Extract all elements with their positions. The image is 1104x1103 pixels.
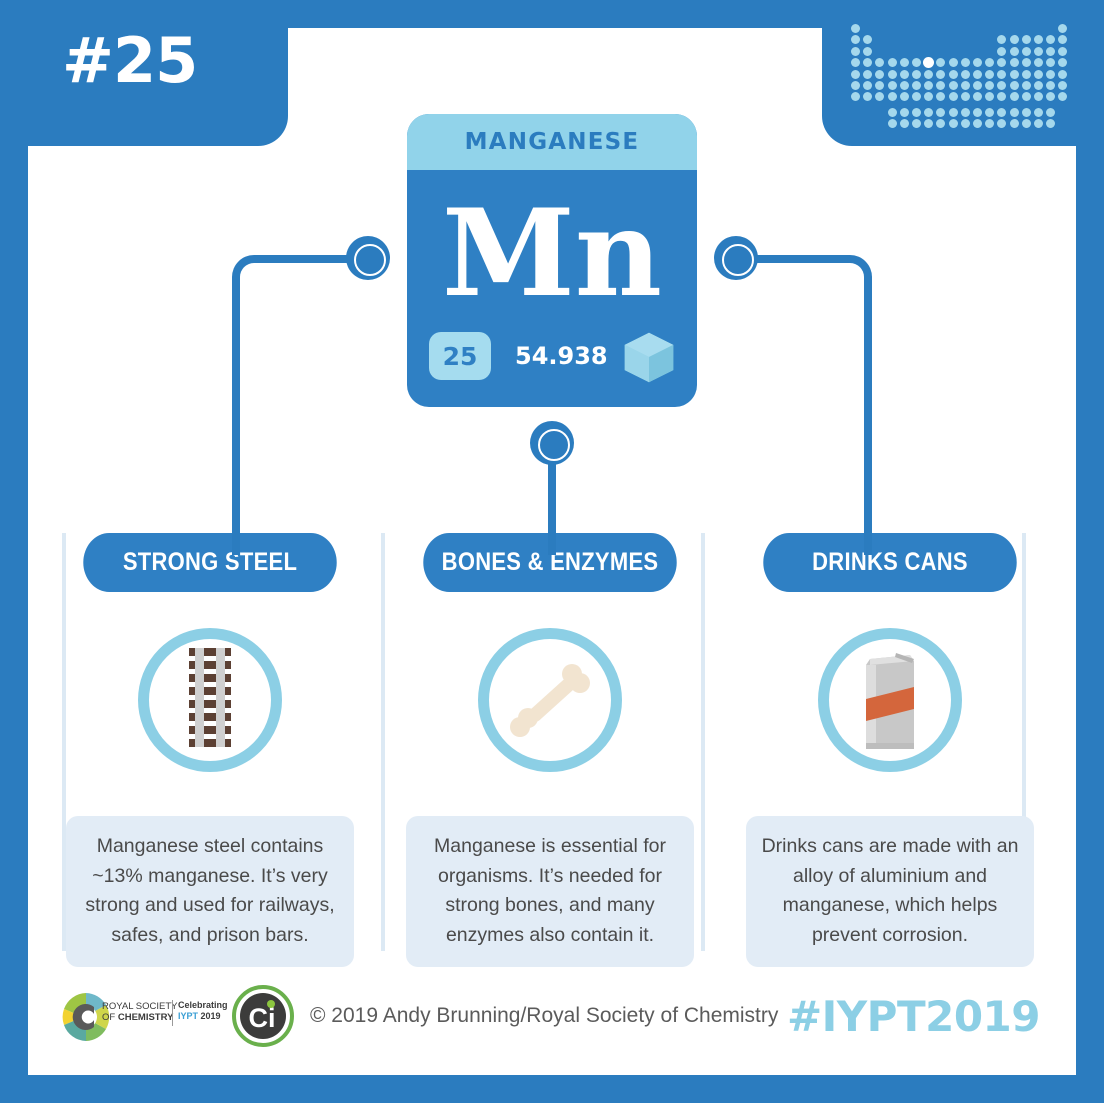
periodic-table-tab (822, 0, 1104, 146)
periodic-dot (961, 108, 970, 117)
periodic-dot (888, 119, 897, 128)
atomic-number: 25 (429, 332, 491, 380)
periodic-dot (851, 92, 860, 101)
connector-line-right (732, 255, 872, 555)
royal-society-of-chemistry-logo: ROYAL SOCIETY OF CHEMISTRY Celebrating I… (60, 987, 220, 1045)
periodic-dot (973, 119, 982, 128)
periodic-dot (863, 58, 872, 67)
periodic-dot (1046, 108, 1055, 117)
periodic-dot (1010, 47, 1019, 56)
periodic-dot (985, 119, 994, 128)
iypt-year: 2019 (198, 1011, 221, 1021)
rsc-line2-chemistry: CHEMISTRY (118, 1012, 174, 1023)
periodic-dot (973, 108, 982, 117)
periodic-dot (1046, 92, 1055, 101)
periodic-dot (973, 81, 982, 90)
rsc-line1: ROYAL SOCIETY (102, 1001, 178, 1012)
periodic-dot (888, 92, 897, 101)
celebrating-iypt-mark: Celebrating IYPT 2019 (178, 1000, 228, 1023)
periodic-dot (1046, 35, 1055, 44)
periodic-dot (1010, 70, 1019, 79)
periodic-dot (961, 92, 970, 101)
periodic-dot (1034, 119, 1043, 128)
periodic-dot (851, 58, 860, 67)
periodic-dot (1010, 35, 1019, 44)
periodic-dot (997, 119, 1006, 128)
element-footer: 25 54.938 (407, 327, 697, 385)
periodic-dot (924, 92, 933, 101)
periodic-dot (1010, 119, 1019, 128)
periodic-dot (973, 70, 982, 79)
icon-ring (138, 628, 282, 772)
rsc-wordmark: ROYAL SOCIETY OF CHEMISTRY (102, 1001, 178, 1023)
periodic-dot (1058, 92, 1067, 101)
periodic-dot (961, 70, 970, 79)
periodic-dot (1046, 58, 1055, 67)
periodic-dot (949, 70, 958, 79)
periodic-dot (985, 92, 994, 101)
compound-interest-logo: Ci (232, 985, 294, 1047)
periodic-dot (1034, 108, 1043, 117)
periodic-dot (1046, 119, 1055, 128)
periodic-dot (1022, 108, 1031, 117)
periodic-dot (936, 108, 945, 117)
footer: ROYAL SOCIETY OF CHEMISTRY Celebrating I… (60, 980, 1040, 1052)
periodic-dot (1046, 47, 1055, 56)
periodic-dot (900, 58, 909, 67)
periodic-dot (875, 58, 884, 67)
periodic-dot (936, 58, 945, 67)
periodic-dot (1022, 58, 1031, 67)
periodic-dot (888, 108, 897, 117)
periodic-dot (997, 47, 1006, 56)
periodic-dot (961, 119, 970, 128)
periodic-dot (985, 108, 994, 117)
periodic-dot (1022, 35, 1031, 44)
element-name: MANGANESE (407, 114, 697, 170)
sections-row: STRONG STEEL Manganese steel contains ~1… (60, 533, 1040, 967)
icon-ring (818, 628, 962, 772)
periodic-dot (936, 119, 945, 128)
periodic-dot (900, 92, 909, 101)
periodic-dot (985, 70, 994, 79)
periodic-dot (949, 92, 958, 101)
hashtag-iypt2019: #IYPT2019 (787, 992, 1040, 1041)
periodic-dot (1022, 47, 1031, 56)
periodic-dot (949, 108, 958, 117)
periodic-dot (936, 70, 945, 79)
periodic-dot (985, 58, 994, 67)
periodic-dot (973, 58, 982, 67)
periodic-dot (1034, 70, 1043, 79)
periodic-dot (1010, 108, 1019, 117)
periodic-dot (936, 81, 945, 90)
periodic-dot (1034, 92, 1043, 101)
periodic-dot (851, 24, 860, 33)
periodic-dot (875, 92, 884, 101)
periodic-dot (1022, 70, 1031, 79)
periodic-dot (888, 58, 897, 67)
section-bones-enzymes: BONES & ENZYMES Manganese is essential f… (400, 533, 700, 967)
periodic-dot (985, 81, 994, 90)
issue-number: #25 (62, 30, 197, 92)
drinks-can-icon (852, 647, 928, 753)
connector-node-left (346, 236, 390, 280)
periodic-dot-active (923, 57, 934, 68)
periodic-dot (851, 70, 860, 79)
periodic-dot (997, 70, 1006, 79)
periodic-dot (1034, 47, 1043, 56)
celebrating-label: Celebrating (178, 1000, 228, 1011)
periodic-dot (949, 81, 958, 90)
atomic-mass: 54.938 (515, 342, 608, 370)
periodic-dot (1022, 92, 1031, 101)
periodic-dot (1058, 81, 1067, 90)
periodic-dot (924, 81, 933, 90)
periodic-dot (912, 108, 921, 117)
periodic-dot (936, 92, 945, 101)
connector-node-center (530, 421, 574, 465)
periodic-dot (1046, 70, 1055, 79)
rsc-divider (172, 1000, 173, 1026)
periodic-dot (875, 81, 884, 90)
periodic-dot (851, 81, 860, 90)
periodic-dot (997, 58, 1006, 67)
cube-icon (621, 329, 677, 385)
periodic-dot (1058, 47, 1067, 56)
iypt-label: IYPT (178, 1011, 198, 1021)
periodic-dot (924, 108, 933, 117)
periodic-dot (997, 92, 1006, 101)
periodic-dot (900, 108, 909, 117)
periodic-dot (875, 70, 884, 79)
element-tile: MANGANESE Mn 25 54.938 (407, 114, 697, 407)
section-drinks-cans: DRINKS CANS Drinks cans are made with an… (740, 533, 1040, 967)
periodic-dot (888, 81, 897, 90)
periodic-dot (997, 108, 1006, 117)
section-description: Manganese is essential for organisms. It… (406, 816, 694, 967)
periodic-dot (912, 92, 921, 101)
connector-line-left (232, 255, 372, 555)
issue-tab: #25 (0, 0, 288, 146)
periodic-dot (863, 70, 872, 79)
periodic-dot (1034, 35, 1043, 44)
periodic-dot (1058, 70, 1067, 79)
connector-node-right (714, 236, 758, 280)
periodic-dot (912, 70, 921, 79)
rsc-line2-of: OF (102, 1012, 118, 1023)
periodic-dot (1034, 81, 1043, 90)
periodic-dot (1010, 92, 1019, 101)
infographic-root: #25 MANGANESE Mn 25 54.938 STRONG STEEL (0, 0, 1104, 1103)
periodic-dot (1034, 58, 1043, 67)
periodic-dot (851, 35, 860, 44)
bone-icon (500, 650, 600, 750)
periodic-dot (1010, 81, 1019, 90)
periodic-dot (912, 58, 921, 67)
periodic-dot (961, 58, 970, 67)
periodic-dot (900, 70, 909, 79)
periodic-dot (888, 70, 897, 79)
periodic-dot (924, 70, 933, 79)
periodic-dot (949, 58, 958, 67)
periodic-dot (863, 92, 872, 101)
section-description: Manganese steel contains ~13% manganese.… (66, 816, 354, 967)
copyright-text: © 2019 Andy Brunning/Royal Society of Ch… (310, 1004, 778, 1028)
periodic-dot (863, 47, 872, 56)
periodic-dot (863, 35, 872, 44)
element-symbol: Mn (407, 176, 697, 331)
periodic-dot (1058, 35, 1067, 44)
section-strong-steel: STRONG STEEL Manganese steel contains ~1… (60, 533, 360, 967)
periodic-dot (912, 119, 921, 128)
periodic-dot (900, 119, 909, 128)
periodic-dot (912, 81, 921, 90)
periodic-dot (1058, 24, 1067, 33)
periodic-dot (997, 81, 1006, 90)
periodic-dot (924, 119, 933, 128)
periodic-dot (997, 35, 1006, 44)
railway-track-icon (175, 648, 245, 752)
section-description: Drinks cans are made with an alloy of al… (746, 816, 1034, 967)
periodic-dot (1058, 58, 1067, 67)
periodic-dot (961, 81, 970, 90)
periodic-dot (949, 119, 958, 128)
icon-ring (478, 628, 622, 772)
periodic-dot (863, 81, 872, 90)
periodic-dot (1046, 81, 1055, 90)
periodic-dot (1022, 81, 1031, 90)
periodic-dot (851, 47, 860, 56)
periodic-dot (1010, 58, 1019, 67)
periodic-dot (900, 81, 909, 90)
periodic-dot (973, 92, 982, 101)
periodic-dot (1022, 119, 1031, 128)
